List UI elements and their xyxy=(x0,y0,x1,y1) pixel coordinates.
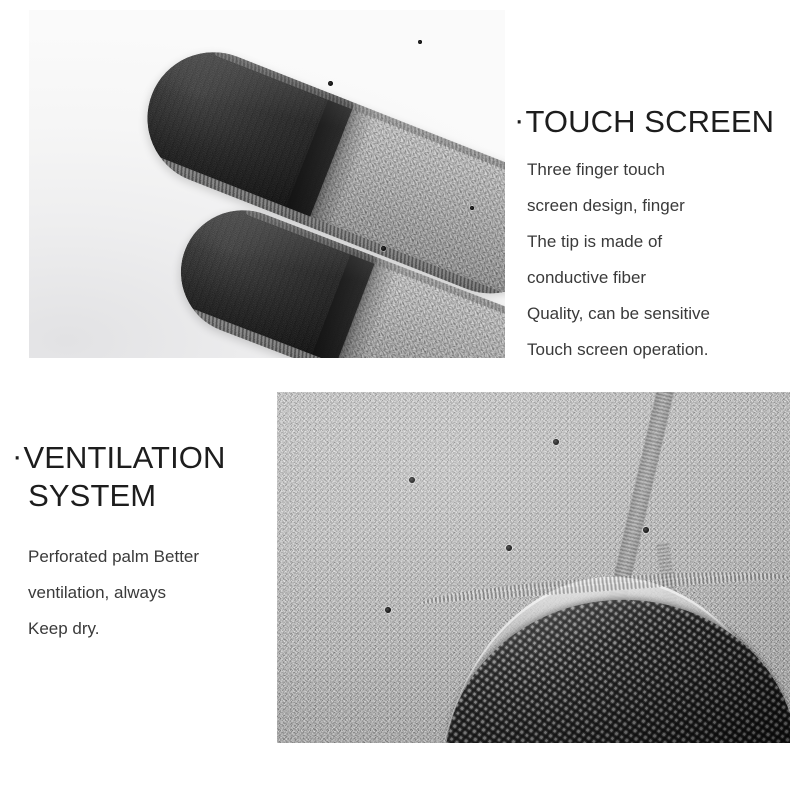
body-line: The tip is made of xyxy=(527,224,774,260)
heading-text-line1: VENTILATION xyxy=(23,440,225,475)
perforation-hole xyxy=(418,40,422,44)
photo-glove-fingertips xyxy=(29,10,505,358)
heading-text: TOUCH SCREEN xyxy=(525,104,774,139)
feature-touch-screen: ·TOUCH SCREEN Three finger touch screen … xyxy=(514,101,774,368)
body-line: Quality, can be sensitive xyxy=(527,296,774,332)
body-line: ventilation, always xyxy=(28,575,226,611)
feature-heading-ventilation-system: ·VENTILATION SYSTEM xyxy=(12,437,226,515)
body-line: Touch screen operation. xyxy=(527,332,774,368)
feature-ventilation-system: ·VENTILATION SYSTEM Perforated palm Bett… xyxy=(12,437,226,647)
perforation-hole xyxy=(470,206,474,210)
heading-text-line2: SYSTEM xyxy=(12,477,226,515)
photo-perforated-palm xyxy=(277,392,790,743)
feature-body-ventilation-system: Perforated palm Better ventilation, alwa… xyxy=(12,539,226,647)
body-line: Perforated palm Better xyxy=(28,539,226,575)
perforation-hole xyxy=(328,81,333,86)
body-line: screen design, finger xyxy=(527,188,774,224)
feature-body-touch-screen: Three finger touch screen design, finger… xyxy=(514,152,774,368)
body-line: Three finger touch xyxy=(527,152,774,188)
body-line: Keep dry. xyxy=(28,611,226,647)
photo-vignette xyxy=(277,392,790,743)
perforation-hole xyxy=(381,246,386,251)
feature-heading-touch-screen: ·TOUCH SCREEN xyxy=(514,101,774,141)
bullet-dot: · xyxy=(12,438,22,473)
body-line: conductive fiber xyxy=(527,260,774,296)
bullet-dot: · xyxy=(514,102,524,137)
